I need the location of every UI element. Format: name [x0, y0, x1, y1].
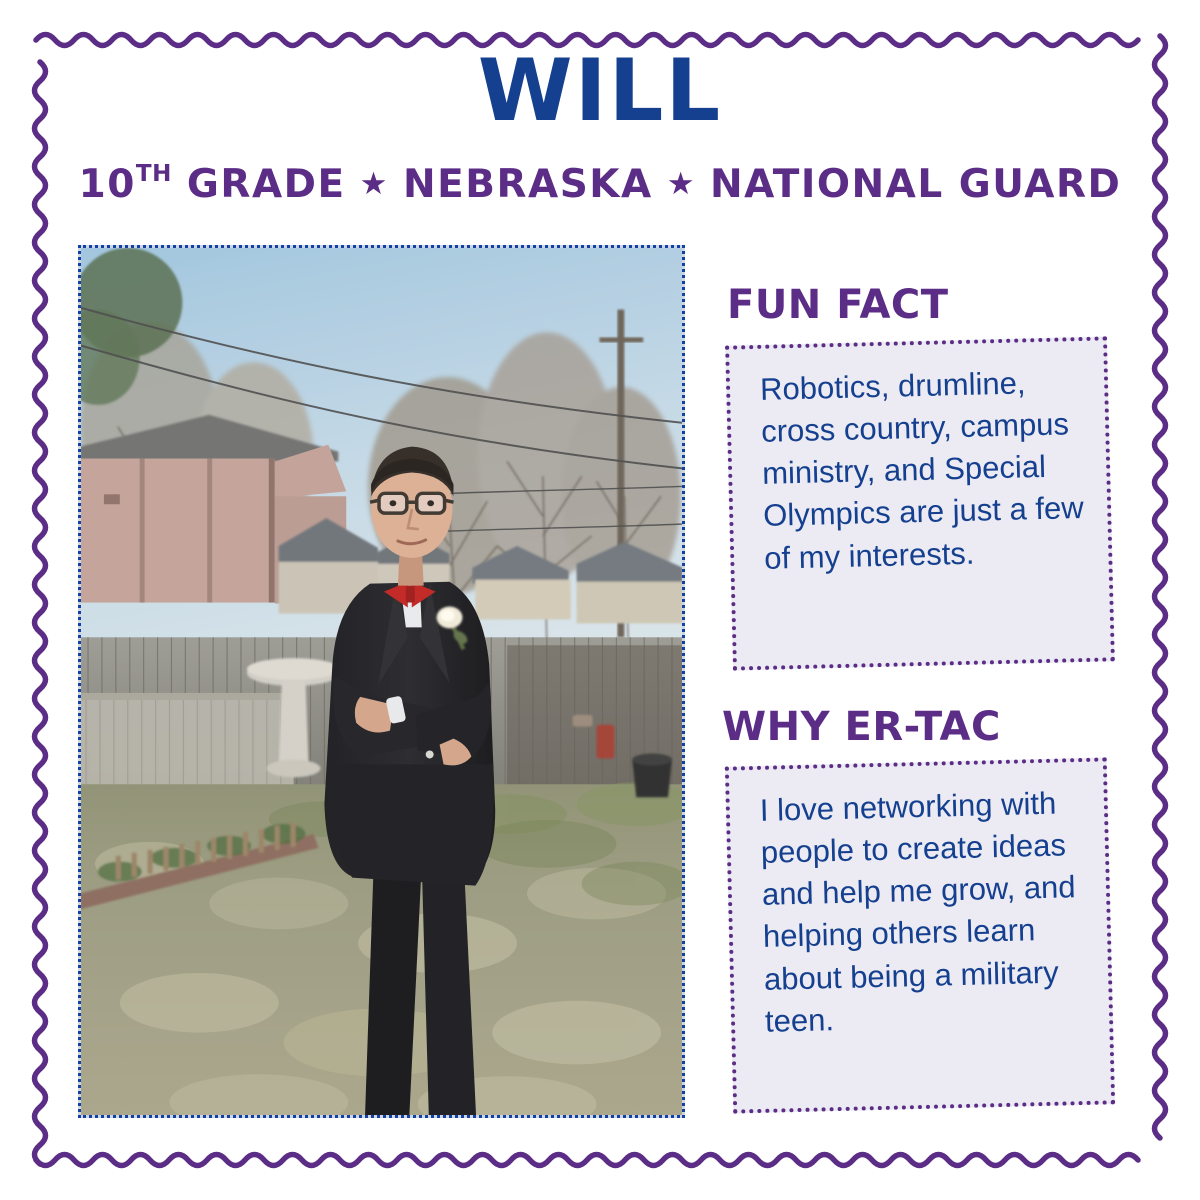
grade-number: 10: [79, 162, 136, 207]
page-title: WILL: [0, 48, 1200, 134]
grade-ordinal-suffix: TH: [136, 161, 172, 187]
student-name: WILL: [478, 41, 722, 141]
star-separator-icon-2: ★: [653, 166, 710, 202]
section-heading-why-er-tac: WHY ER-TAC: [722, 707, 1001, 747]
fun-fact-text: Robotics, drumline, cross country, campu…: [760, 361, 1087, 580]
subtitle-line: 10TH GRADE★NEBRASKA★NATIONAL GUARD: [0, 163, 1200, 204]
why-er-tac-text: I love networking with people to create …: [759, 782, 1087, 1043]
star-separator-icon: ★: [346, 166, 403, 202]
grade-word: GRADE: [172, 162, 346, 207]
state-label: NEBRASKA: [403, 162, 653, 207]
student-photo: [78, 245, 685, 1118]
profile-card: WILL 10TH GRADE★NEBRASKA★NATIONAL GUARD: [0, 0, 1200, 1200]
why-er-tac-box: I love networking with people to create …: [725, 757, 1115, 1113]
fun-fact-box: Robotics, drumline, cross country, campu…: [725, 336, 1115, 670]
branch-label: NATIONAL GUARD: [710, 162, 1121, 207]
photo-illustration: [81, 248, 682, 1115]
section-heading-fun-fact: FUN FACT: [727, 285, 949, 325]
